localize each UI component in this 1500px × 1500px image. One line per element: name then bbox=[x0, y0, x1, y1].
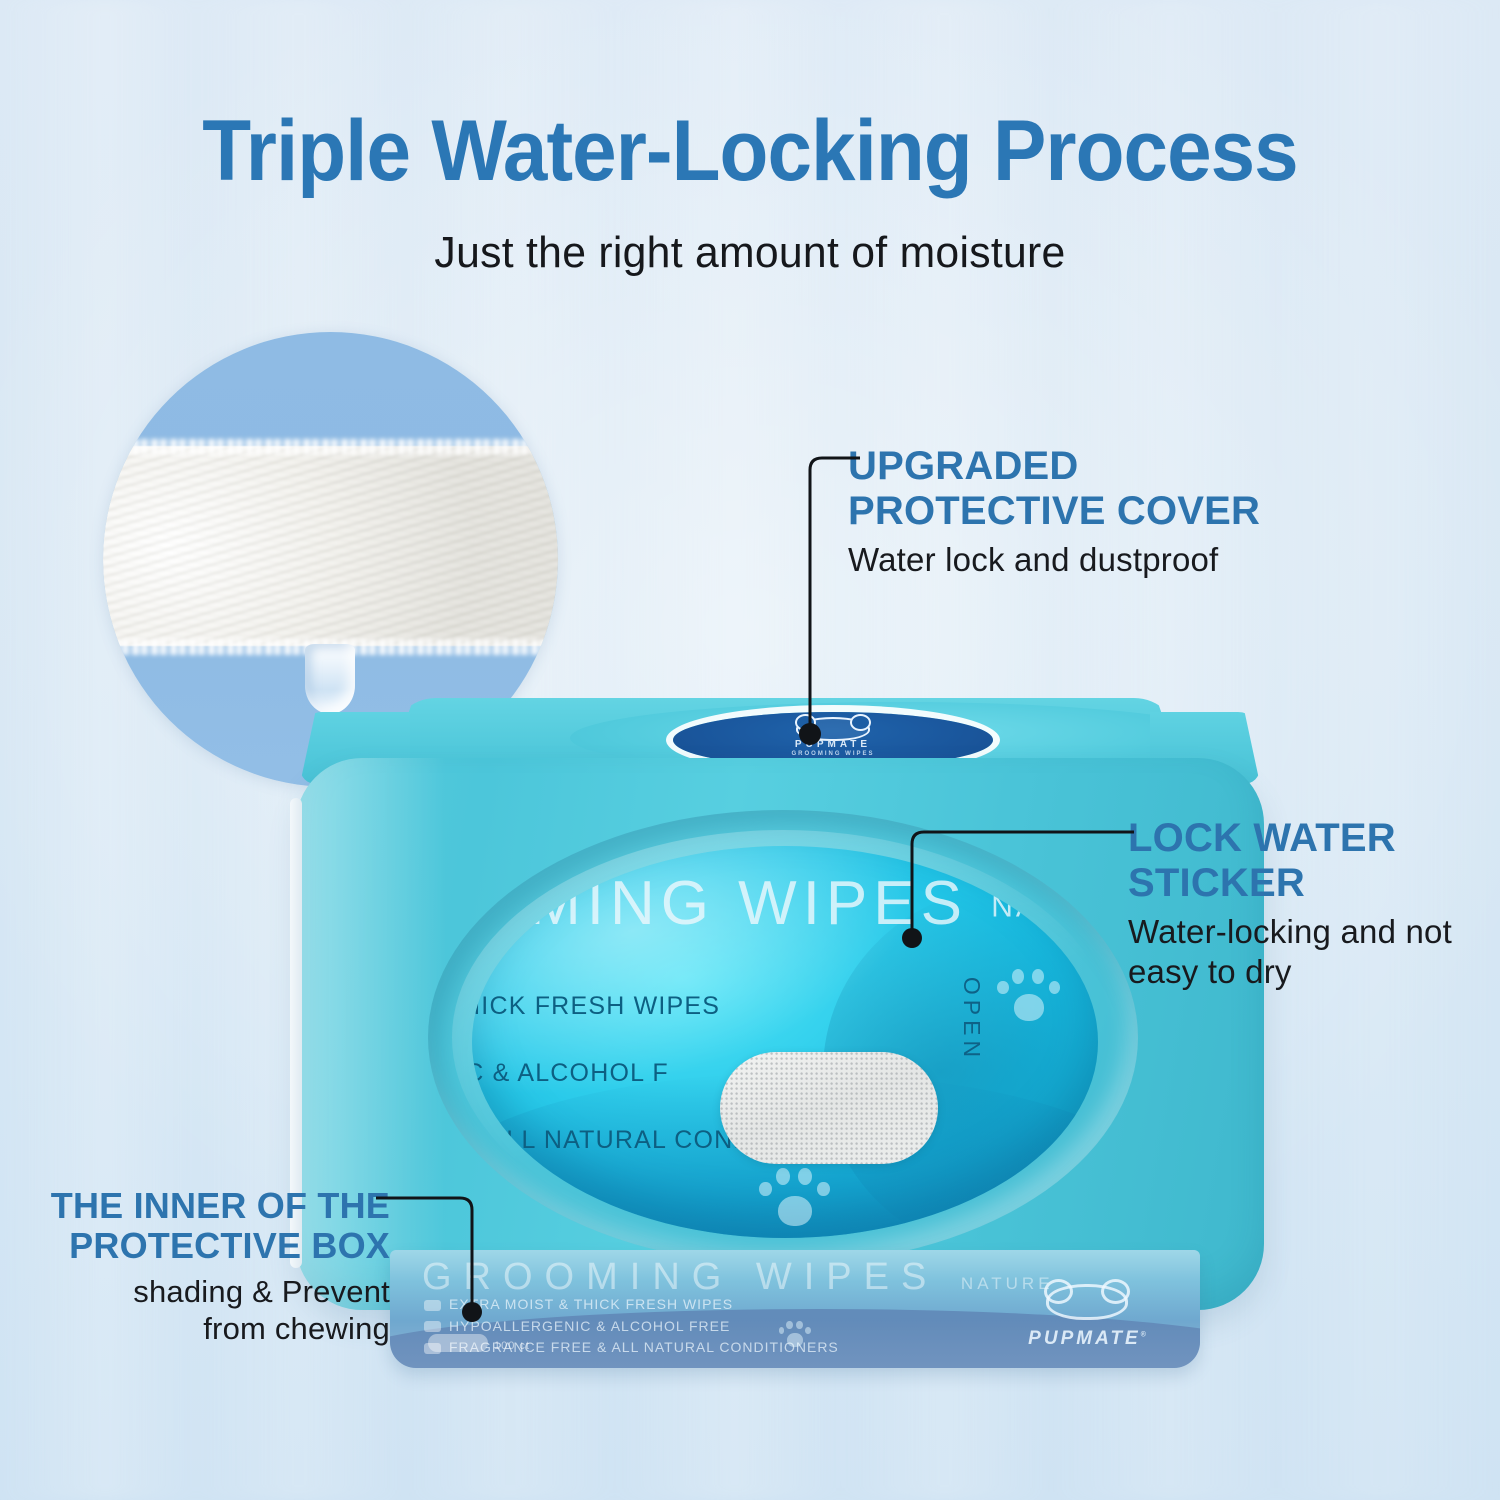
recessed-opening: MING WIPES NA & THICK FRESH WIPES ENIC &… bbox=[428, 810, 1138, 1265]
package-badge bbox=[428, 1334, 488, 1352]
sticker-headline-small: NA bbox=[991, 891, 1039, 924]
paw-print-icon bbox=[778, 1318, 812, 1350]
wipe-sheet[interactable] bbox=[720, 1052, 938, 1164]
package-brand-logo: PUPMATE® bbox=[1012, 1284, 1162, 1354]
callout-lock-water-sticker: LOCK WATER STICKER Water-locking and not… bbox=[1128, 816, 1488, 992]
callout-description-line2: easy to dry bbox=[1128, 952, 1488, 992]
page-subtitle: Just the right amount of moisture bbox=[23, 228, 1478, 278]
callout-description: shading & Prevent from chewing bbox=[22, 1273, 390, 1349]
paw-print-icon bbox=[758, 1162, 832, 1232]
dog-face-icon bbox=[1046, 1284, 1128, 1320]
callout-inner-protective-box: THE INNER OF THE PROTECTIVE BOX shading … bbox=[22, 1186, 390, 1348]
callout-description-line1: Water-locking and not bbox=[1128, 912, 1488, 952]
package-bullet-1: EXTRA MOIST & THICK FRESH WIPES bbox=[449, 1296, 733, 1312]
callout-heading-line2: STICKER bbox=[1128, 861, 1488, 906]
callout-description-line1: shading & Prevent bbox=[22, 1273, 390, 1311]
package-brand-name: PUPMATE® bbox=[1028, 1328, 1146, 1350]
callout-heading: LOCK WATER STICKER bbox=[1128, 816, 1488, 906]
dog-face-icon bbox=[796, 717, 870, 741]
callout-description-line2: from chewing bbox=[22, 1310, 390, 1348]
page-title: Triple Water-Locking Process bbox=[53, 108, 1448, 196]
callout-description: Water-locking and not easy to dry bbox=[1128, 912, 1488, 993]
package-headline-main: GROOMING WIPES bbox=[422, 1256, 938, 1298]
callout-heading-line1: UPGRADED bbox=[848, 444, 1318, 489]
open-label: OPEN bbox=[958, 977, 985, 1062]
callout-upgraded-protective-cover: UPGRADED PROTECTIVE COVER Water lock and… bbox=[848, 444, 1318, 580]
package-bullets: EXTRA MOIST & THICK FRESH WIPES HYPOALLE… bbox=[424, 1294, 839, 1359]
paw-print-icon bbox=[996, 964, 1062, 1026]
fiber-edge-top bbox=[103, 439, 558, 455]
callout-heading: THE INNER OF THE PROTECTIVE BOX bbox=[22, 1186, 390, 1267]
package-brand-text: PUPMATE bbox=[1028, 1328, 1140, 1349]
callout-heading-line1: LOCK WATER bbox=[1128, 816, 1488, 861]
sticker-headline-main: MING WIPES bbox=[529, 869, 968, 938]
fiber-texture bbox=[103, 446, 558, 646]
callout-heading-line1: THE INNER OF THE bbox=[22, 1186, 390, 1226]
callout-heading-line2: PROTECTIVE BOX bbox=[22, 1226, 390, 1266]
infographic-canvas: Triple Water-Locking Process Just the ri… bbox=[0, 0, 1500, 1500]
lock-water-sticker[interactable]: MING WIPES NA & THICK FRESH WIPES ENIC &… bbox=[472, 846, 1098, 1238]
package-headline: GROOMING WIPES NATURE bbox=[422, 1256, 1054, 1299]
package-count: 100 ct bbox=[494, 1340, 530, 1352]
sticker-headline: MING WIPES NA bbox=[472, 868, 1098, 939]
lid-brand-name: PUPMATE bbox=[795, 739, 871, 750]
lid-brand-sub: GROOMING WIPES bbox=[791, 751, 874, 757]
callout-heading-line2: PROTECTIVE COVER bbox=[848, 489, 1318, 534]
trademark-icon: ® bbox=[1141, 1332, 1146, 1339]
package-label: GROOMING WIPES NATURE EXTRA MOIST & THIC… bbox=[390, 1250, 1200, 1368]
callout-description: Water lock and dustproof bbox=[848, 540, 1318, 580]
product-wipes-container: PUPMATE GROOMING WIPES FOR FRESHNESS MIN… bbox=[280, 690, 1280, 1370]
callout-heading: UPGRADED PROTECTIVE COVER bbox=[848, 444, 1318, 534]
container-body: MING WIPES NA & THICK FRESH WIPES ENIC &… bbox=[296, 758, 1264, 1310]
package-bullet-2: HYPOALLERGENIC & ALCOHOL FREE bbox=[449, 1318, 730, 1334]
